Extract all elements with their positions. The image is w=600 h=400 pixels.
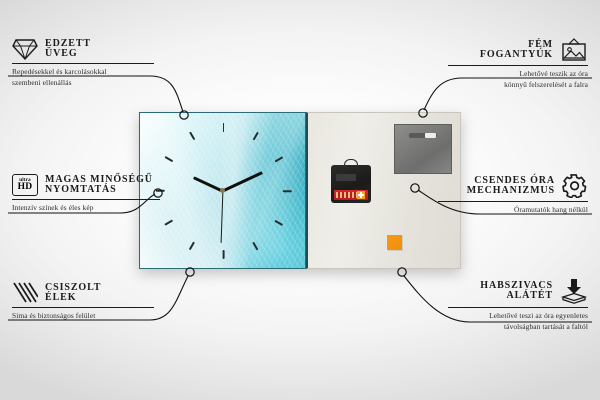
- clock-center-cap: [220, 188, 225, 193]
- feature-title: FÉM FOGANTYÚK: [480, 40, 553, 60]
- feature-subtitle-line2: könnyű felszerelését a falra: [448, 80, 588, 90]
- feature-title: CSISZOLT ÉLEK: [45, 283, 101, 303]
- diamond-icon: [12, 38, 38, 60]
- feature-subtitle: Sima és biztonságos felület: [12, 311, 154, 321]
- feature-title-line2: FOGANTYÚK: [480, 50, 553, 60]
- feature-edzett-uveg: EDZETT ÜVEG Repedésekkel és karcolásokka…: [12, 38, 154, 88]
- connector-node-csiszolt-elek: [186, 268, 194, 276]
- hour-tick: [274, 219, 283, 225]
- feature-subtitle-line2: távolságban tartását a faltól: [448, 322, 588, 332]
- clock-front-panel: [139, 112, 306, 269]
- movement-hook: [344, 159, 358, 168]
- feature-header: EDZETT ÜVEG: [12, 38, 154, 60]
- feature-title: EDZETT ÜVEG: [45, 39, 91, 59]
- feature-title-line2: ALÁTÉT: [480, 291, 553, 301]
- polished-edges-icon: [12, 282, 38, 304]
- feature-subtitle: Óramutatók hang nélkül: [438, 205, 588, 215]
- hour-tick: [274, 156, 283, 162]
- metal-hanger-plate: [394, 124, 452, 174]
- feature-subtitle: Repedésekkel és karcolásokkal szembeni e…: [12, 67, 154, 87]
- feature-header: CSENDES ÓRA MECHANIZMUS: [438, 174, 588, 198]
- feature-subtitle-line1: Repedésekkel és karcolásokkal: [12, 67, 154, 77]
- feature-subtitle-line2: szembeni ellenállás: [12, 78, 154, 88]
- battery-plus-terminal: [357, 191, 365, 199]
- movement-slot: [336, 174, 356, 181]
- feature-title: HABSZIVACS ALÁTÉT: [480, 281, 553, 301]
- feature-title-line2: ÜVEG: [45, 49, 91, 59]
- ultra-hd-icon: ultra HD: [12, 174, 38, 196]
- feature-title-line2: MECHANIZMUS: [467, 186, 555, 196]
- ultra-hd-icon-bottom-label: HD: [18, 183, 33, 193]
- hour-tick: [189, 131, 195, 140]
- hour-tick: [189, 241, 195, 250]
- hour-tick: [252, 241, 258, 250]
- feature-header: CSISZOLT ÉLEK: [12, 282, 154, 304]
- quartz-movement: [331, 165, 371, 203]
- foam-pad-icon: [560, 278, 588, 304]
- feature-header: ultra HD MAGAS MINŐSÉGŰ NYOMTATÁS: [12, 174, 160, 196]
- hour-tick: [223, 123, 225, 132]
- product-photo: [139, 112, 461, 269]
- feature-title-line2: ÉLEK: [45, 293, 101, 303]
- hour-tick: [164, 156, 173, 162]
- feature-subtitle-line1: Lehetővé teszik az óra: [448, 69, 588, 79]
- clock-second-hand: [220, 190, 223, 242]
- feature-rule: [12, 63, 154, 64]
- feature-subtitle-line1: Intenzív színek és éles kép: [12, 203, 160, 213]
- feature-rule: [438, 201, 588, 202]
- feature-header: HABSZIVACS ALÁTÉT: [448, 278, 588, 304]
- feature-title: MAGAS MINŐSÉGŰ NYOMTATÁS: [45, 175, 153, 195]
- clock-minute-hand: [222, 171, 263, 192]
- hour-tick: [252, 131, 258, 140]
- hanger-slot: [409, 133, 437, 138]
- feature-rule: [12, 199, 160, 200]
- infographic-canvas: EDZETT ÜVEG Repedésekkel és karcolásokka…: [0, 0, 600, 400]
- feature-subtitle: Intenzív színek és éles kép: [12, 203, 160, 213]
- hour-tick: [282, 190, 291, 192]
- feature-title: CSENDES ÓRA MECHANIZMUS: [467, 176, 555, 196]
- connector-node-habszivacs: [398, 268, 406, 276]
- feature-rule: [12, 307, 154, 308]
- feature-subtitle-line1: Óramutatók hang nélkül: [438, 205, 588, 215]
- clock-hour-hand: [193, 175, 223, 192]
- feature-subtitle-line1: Lehetővé teszi az óra egyenletes: [448, 311, 588, 321]
- feature-rule: [448, 307, 588, 308]
- feature-csiszolt-elek: CSISZOLT ÉLEK Sima és biztonságos felüle…: [12, 282, 154, 322]
- foam-spacer-pad: [387, 235, 402, 250]
- feature-fem-fogantyuk: FÉM FOGANTYÚK Lehetővé teszik az óra kön…: [448, 38, 588, 90]
- hour-tick: [223, 250, 225, 259]
- feature-magas-minosegu-nyomtatas: ultra HD MAGAS MINŐSÉGŰ NYOMTATÁS Intenz…: [12, 174, 160, 214]
- feature-habszivacs-alatet: HABSZIVACS ALÁTÉT Lehetővé teszi az óra …: [448, 278, 588, 332]
- feature-header: FÉM FOGANTYÚK: [448, 38, 588, 62]
- feature-csendes-ora-mechanizmus: CSENDES ÓRA MECHANIZMUS Óramutatók hang …: [438, 174, 588, 216]
- feature-subtitle-line1: Sima és biztonságos felület: [12, 311, 154, 321]
- hour-tick: [164, 219, 173, 225]
- feature-subtitle: Lehetővé teszik az óra könnyű felszerelé…: [448, 69, 588, 89]
- gear-icon: [562, 174, 588, 198]
- feature-title-line2: NYOMTATÁS: [45, 185, 153, 195]
- feature-subtitle: Lehetővé teszi az óra egyenletes távolsá…: [448, 311, 588, 331]
- feature-rule: [448, 65, 588, 66]
- picture-hanger-icon: [560, 38, 588, 62]
- battery: [334, 190, 368, 200]
